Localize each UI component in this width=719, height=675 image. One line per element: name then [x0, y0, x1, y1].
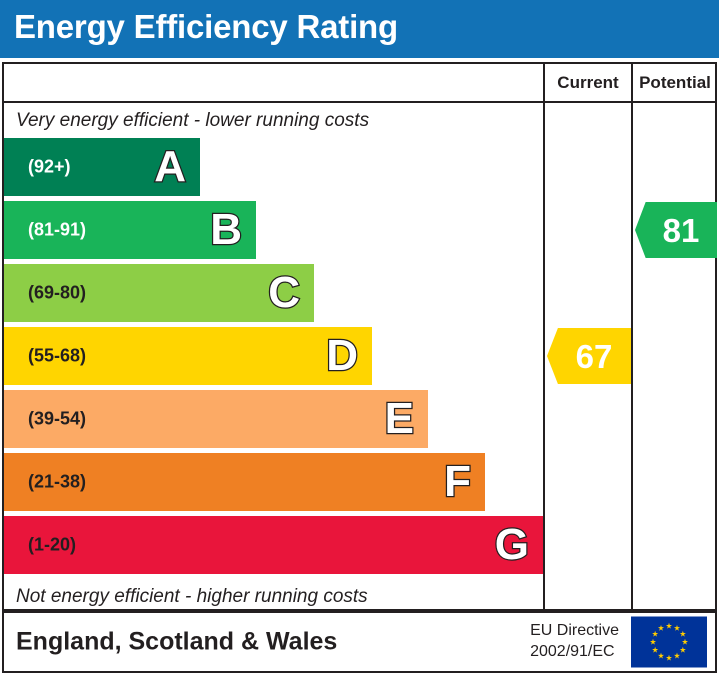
band-bars: (92+)A(81-91)B(69-80)C(55-68)D(39-54)E(2… [4, 137, 543, 580]
band-bar-d: (55-68)D [4, 327, 372, 385]
band-range-g: (1-20) [28, 535, 76, 556]
header-divider [4, 101, 715, 103]
eu-directive-line2: 2002/91/EC [530, 642, 619, 663]
band-range-f: (21-38) [28, 472, 86, 493]
eu-flag-icon [631, 617, 707, 668]
caption-inefficient: Not energy efficient - higher running co… [16, 586, 368, 608]
footer-region-label: England, Scotland & Wales [16, 628, 337, 657]
rating-table: Current Potential Very energy efficient … [2, 62, 717, 611]
column-header-potential: Potential [633, 64, 717, 101]
band-range-a: (92+) [28, 157, 71, 178]
band-range-c: (69-80) [28, 283, 86, 304]
eu-directive-line1: EU Directive [530, 621, 619, 642]
caption-efficient: Very energy efficient - lower running co… [16, 110, 369, 132]
title-bar: Energy Efficiency Rating [0, 0, 719, 58]
band-range-b: (81-91) [28, 220, 86, 241]
energy-efficiency-rating-chart: Energy Efficiency Rating Current Potenti… [0, 0, 719, 675]
band-letter-b: B [210, 208, 242, 252]
band-bar-e: (39-54)E [4, 390, 428, 448]
page-title: Energy Efficiency Rating [14, 8, 398, 46]
column-divider-current [543, 64, 545, 609]
band-bar-a: (92+)A [4, 138, 200, 196]
rating-arrow-current: 67 [547, 328, 631, 384]
column-header-current: Current [545, 64, 631, 101]
band-bar-g: (1-20)G [4, 516, 543, 574]
band-bar-b: (81-91)B [4, 201, 256, 259]
eu-directive-text: EU Directive 2002/91/EC [530, 621, 619, 663]
band-letter-c: C [268, 271, 300, 315]
rating-value-potential: 81 [653, 214, 700, 247]
column-divider-potential [631, 64, 633, 609]
band-letter-e: E [385, 397, 414, 441]
band-bar-f: (21-38)F [4, 453, 485, 511]
band-letter-a: A [154, 145, 186, 189]
rating-value-current: 67 [566, 340, 613, 373]
band-range-e: (39-54) [28, 409, 86, 430]
band-letter-d: D [326, 334, 358, 378]
band-letter-f: F [444, 460, 471, 504]
band-letter-g: G [495, 523, 529, 567]
rating-arrow-potential: 81 [635, 202, 717, 258]
band-range-d: (55-68) [28, 346, 86, 367]
band-bar-c: (69-80)C [4, 264, 314, 322]
footer-bar: England, Scotland & Wales EU Directive 2… [2, 611, 717, 673]
